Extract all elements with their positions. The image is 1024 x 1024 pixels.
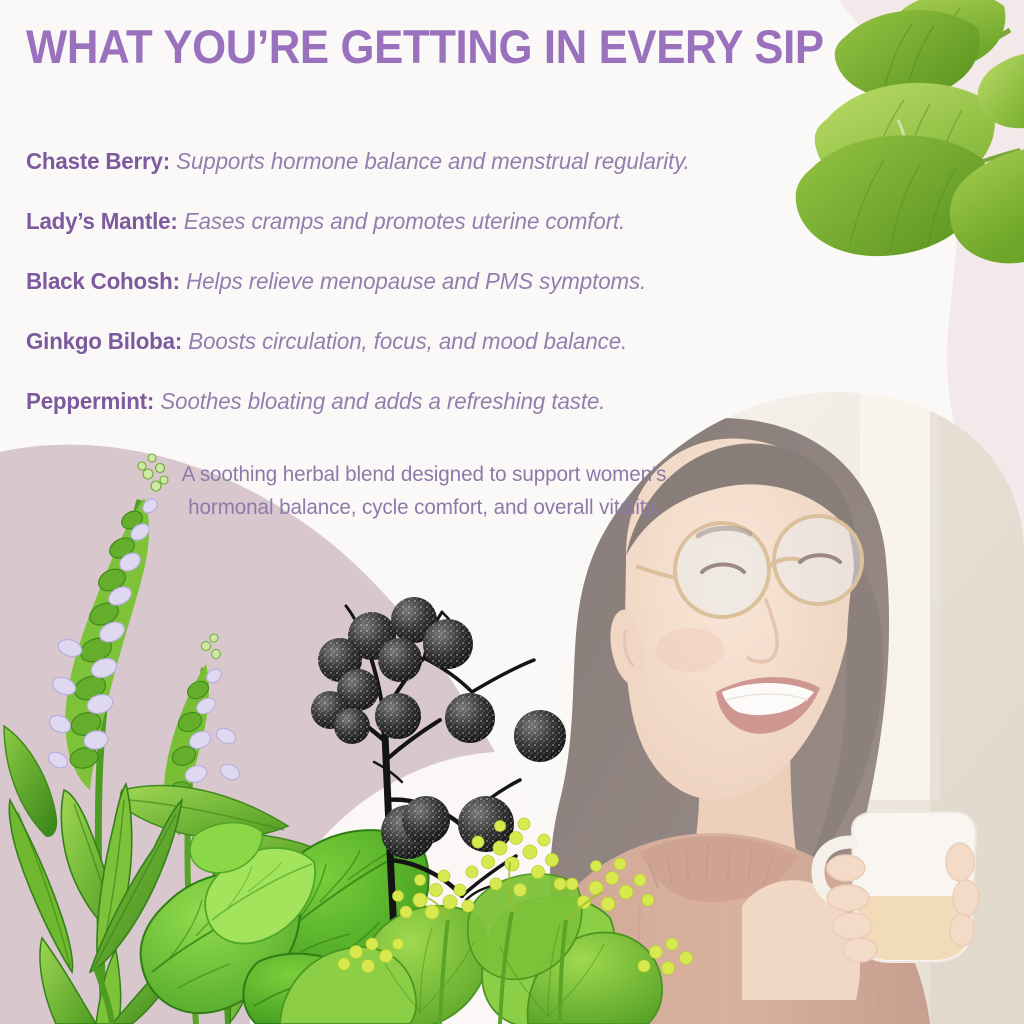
ingredient-name: Black Cohosh: xyxy=(26,268,180,294)
ingredient-name: Lady’s Mantle: xyxy=(26,208,178,234)
blurb-line-2: hormonal balance, cycle comfort, and ove… xyxy=(78,491,769,524)
ingredient-item-peppermint: Peppermint: Soothes bloating and adds a … xyxy=(26,386,910,446)
ingredient-description: Supports hormone balance and menstrual r… xyxy=(176,148,690,174)
ingredient-name: Ginkgo Biloba: xyxy=(26,328,182,354)
ingredient-list: Chaste Berry: Supports hormone balance a… xyxy=(26,146,956,446)
ingredient-name: Peppermint: xyxy=(26,388,154,414)
blurb-line-1: A soothing herbal blend designed to supp… xyxy=(78,458,769,491)
ingredient-description: Boosts circulation, focus, and mood bala… xyxy=(188,328,627,354)
ingredient-description: Eases cramps and promotes uterine comfor… xyxy=(184,208,625,234)
ingredient-item-chaste-berry: Chaste Berry: Supports hormone balance a… xyxy=(26,146,910,206)
ingredient-item-ginkgo-biloba: Ginkgo Biloba: Boosts circulation, focus… xyxy=(26,326,910,386)
page-title: WHAT YOU’RE GETTING IN EVERY SIP xyxy=(26,22,824,72)
closing-blurb: A soothing herbal blend designed to supp… xyxy=(78,458,769,524)
ingredient-description: Helps relieve menopause and PMS symptoms… xyxy=(186,268,646,294)
ingredient-item-ladys-mantle: Lady’s Mantle: Eases cramps and promotes… xyxy=(26,206,910,266)
ingredient-name: Chaste Berry: xyxy=(26,148,170,174)
ingredient-item-black-cohosh: Black Cohosh: Helps relieve menopause an… xyxy=(26,266,910,326)
ingredient-description: Soothes bloating and adds a refreshing t… xyxy=(160,388,605,414)
poster-canvas: WHAT YOU’RE GETTING IN EVERY SIP Chaste … xyxy=(0,0,1024,1024)
